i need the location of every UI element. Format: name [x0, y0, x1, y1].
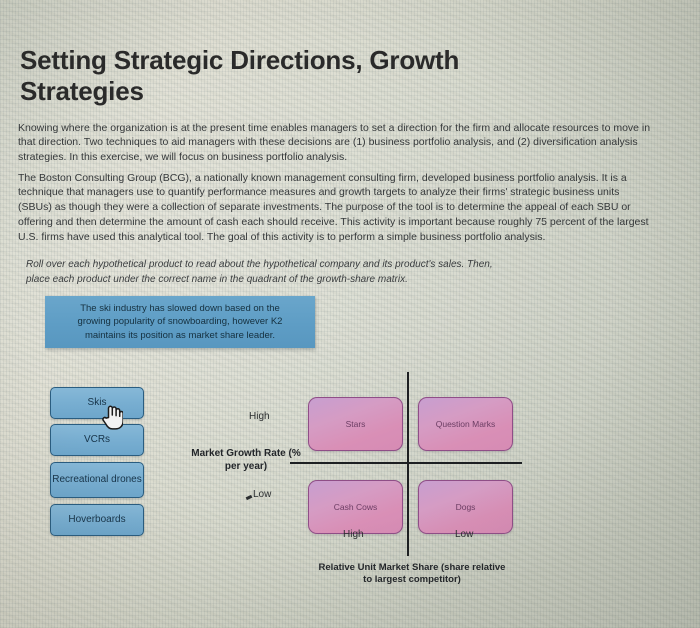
- quadrant-label: Dogs: [456, 502, 476, 512]
- quadrant-label: Question Marks: [436, 419, 496, 429]
- y-axis-low-tick-icon: [246, 495, 253, 500]
- matrix-dropzone-stars[interactable]: Stars: [308, 397, 403, 451]
- page-content: Setting Strategic Directions, Growth Str…: [0, 0, 700, 628]
- x-axis-title: Relative Unit Market Share (share relati…: [318, 562, 506, 587]
- y-axis-low-label: Low: [253, 489, 271, 500]
- quadrant-label: Cash Cows: [334, 502, 377, 512]
- y-axis-high-label: High: [249, 411, 270, 422]
- quadrant-label: Stars: [346, 419, 366, 429]
- matrix-dropzone-dogs[interactable]: Dogs: [418, 480, 513, 534]
- matrix-vertical-axis-line: [407, 372, 409, 556]
- x-axis-high-label: High: [343, 529, 364, 540]
- matrix-dropzone-question-marks[interactable]: Question Marks: [418, 397, 513, 451]
- x-axis-low-label: Low: [455, 529, 473, 540]
- matrix-dropzone-cash-cows[interactable]: Cash Cows: [308, 480, 403, 534]
- matrix-horizontal-axis-line: [290, 462, 522, 464]
- y-axis-title: Market Growth Rate (% per year): [186, 447, 306, 473]
- growth-share-matrix: Stars Question Marks Cash Cows Dogs High…: [0, 0, 700, 628]
